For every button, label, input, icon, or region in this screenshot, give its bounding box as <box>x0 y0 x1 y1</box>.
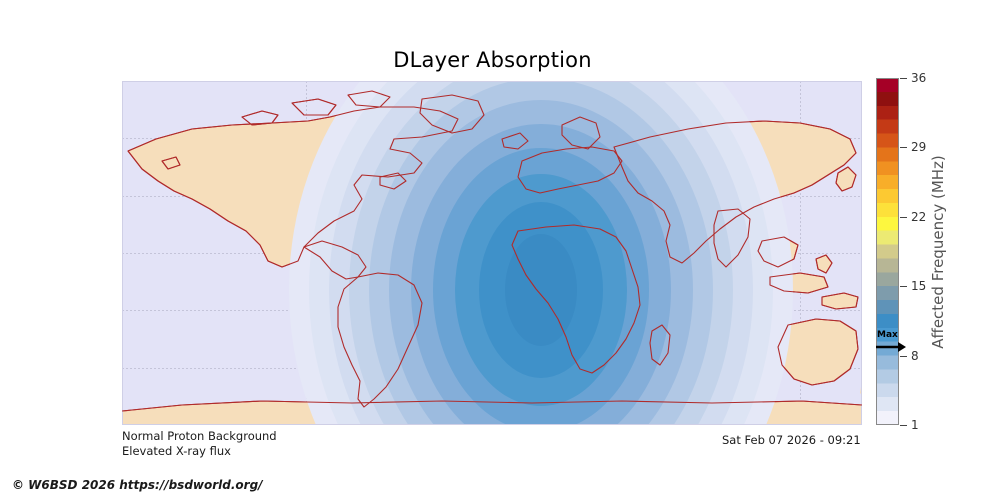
colorbar-tick-29 <box>900 147 907 148</box>
map-panel[interactable] <box>122 81 862 425</box>
page-title: DLayer Absorption <box>0 48 985 72</box>
timestamp: Sat Feb 07 2026 - 09:21 <box>722 433 861 447</box>
note-proton-background: Normal Proton Background <box>122 429 277 443</box>
max-marker-label: Max <box>877 330 898 340</box>
max-marker: Max <box>876 331 906 355</box>
colorbar-tick-15 <box>900 286 907 287</box>
colorbar-tick-label-29: 29 <box>911 140 926 154</box>
colorbar-tick-label-36: 36 <box>911 71 926 85</box>
colorbar-tick-label-15: 15 <box>911 279 926 293</box>
absorption-band-11 <box>505 234 577 346</box>
absorption-contours <box>122 81 862 425</box>
max-arrow-icon <box>876 341 906 353</box>
colorbar-tick-label-22: 22 <box>911 210 926 224</box>
copyright-notice: © W6BSD 2026 https://bsdworld.org/ <box>12 478 263 492</box>
colorbar[interactable] <box>876 78 899 425</box>
colorbar-border <box>876 78 899 425</box>
colorbar-tick-22 <box>900 217 907 218</box>
colorbar-tick-label-1: 1 <box>911 418 919 432</box>
colorbar-tick-1 <box>900 425 907 426</box>
colorbar-axis-label: Affected Frequency (MHz) <box>925 78 951 425</box>
colorbar-tick-label-8: 8 <box>911 349 919 363</box>
note-xray-flux: Elevated X-ray flux <box>122 444 231 458</box>
colorbar-tick-36 <box>900 78 907 79</box>
absorption-bands <box>289 81 793 425</box>
colorbar-tick-8 <box>900 356 907 357</box>
colorbar-axis-label-text: Affected Frequency (MHz) <box>929 155 947 349</box>
